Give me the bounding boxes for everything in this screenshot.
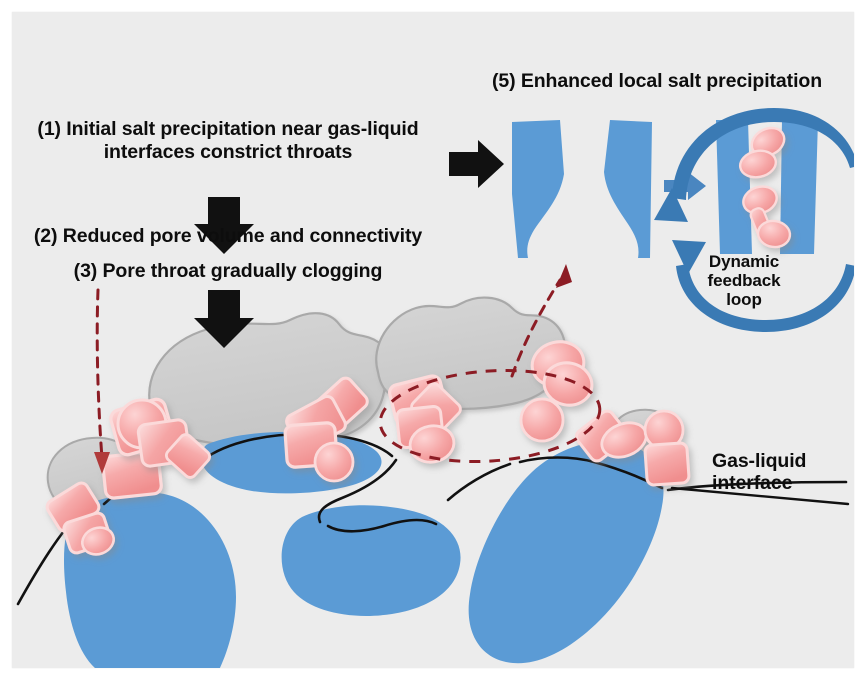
diagram-canvas: (1) Initial salt precipitation near gas-… xyxy=(12,12,854,668)
pore-wall-left-2 xyxy=(716,120,752,254)
arrow-right-icon xyxy=(449,140,504,188)
pore-wall-right xyxy=(604,120,652,258)
figure-root: (1) Initial salt precipitation near gas-… xyxy=(0,0,866,689)
salt-crystal-square xyxy=(645,443,690,486)
pore-throat-constricting-schematic xyxy=(512,120,652,258)
dynamic-feedback-loop-label: Dynamic feedback loop xyxy=(684,252,804,309)
artwork-layer xyxy=(12,12,854,668)
pore-throat-clogged-schematic xyxy=(716,120,818,254)
step-3-label: (3) Pore throat gradually clogging xyxy=(18,260,438,283)
step-2-label: (2) Reduced pore volume and connectivity xyxy=(18,225,438,248)
pore-wall-left xyxy=(512,120,564,258)
gas-liquid-interface-label: Gas-liquid interface xyxy=(712,450,847,494)
salt-crystal-round xyxy=(521,399,563,441)
step-1-label: (1) Initial salt precipitation near gas-… xyxy=(18,118,438,164)
salt-crystal-round xyxy=(315,443,353,481)
step-5-label: (5) Enhanced local salt precipitation xyxy=(467,70,847,93)
